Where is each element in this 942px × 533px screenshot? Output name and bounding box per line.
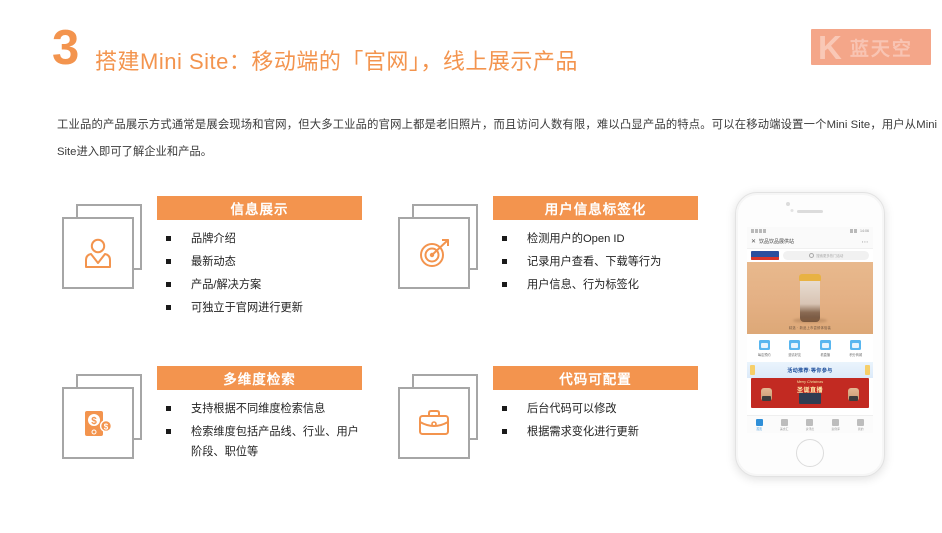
list-item: 根据需求变化进行更新	[493, 422, 698, 442]
target-icon	[398, 217, 470, 289]
list-item: 记录用户查看、下载等行为	[493, 252, 698, 272]
banner-subtitle: Merry Christmas	[751, 380, 869, 384]
gift-icon	[850, 340, 861, 350]
list-item: 可独立于官网进行更新	[157, 298, 362, 318]
quicknav-item[interactable]: 每店预约	[752, 340, 776, 357]
card-title: 信息展示	[231, 198, 289, 218]
close-icon[interactable]: ✕	[751, 238, 756, 245]
mini-site-titlebar: ✕ 饮品饮品展供站 ⋯	[747, 235, 873, 249]
livestream-banner[interactable]: Merry Christmas 圣诞直播	[751, 378, 869, 408]
quicknav-label: 邀请好友	[788, 352, 801, 357]
mini-site-title: 饮品饮品展供站	[759, 238, 861, 245]
card-title: 代码可配置	[559, 368, 632, 388]
tab-home[interactable]: 首页	[756, 419, 763, 431]
tab-label: 我的	[858, 427, 864, 431]
status-right: 14:06	[850, 229, 869, 233]
list-item: 支持根据不同维度检索信息	[157, 399, 362, 419]
tab-label: 美食汇	[780, 427, 788, 431]
card-title: 用户信息标签化	[545, 198, 647, 218]
list-item: 后台代码可以修改	[493, 399, 698, 419]
list-item: 最新动态	[157, 252, 362, 272]
quicknav-label: 看直播	[820, 352, 830, 357]
earpiece-speaker	[797, 210, 823, 213]
quicknav-item[interactable]: 积分商城	[844, 340, 868, 357]
sensor-icon	[791, 209, 794, 212]
front-camera-icon	[786, 202, 790, 206]
tab-label: 案例库	[832, 427, 840, 431]
card-body: 代码可配置 后台代码可以修改 根据需求变化进行更新	[493, 366, 698, 445]
quick-nav: 每店预约 邀请好友 看直播 积分商城	[747, 334, 873, 362]
hero-banner[interactable]: 精选 · 新品上市尝鲜体验装	[747, 262, 873, 334]
person-icon	[62, 217, 134, 289]
card-bullets: 检测用户的Open ID 记录用户查看、下载等行为 用户信息、行为标签化	[493, 220, 698, 295]
card-body: 多维度检索 支持根据不同维度检索信息 检索维度包括产品线、行业、用户阶段、职位等	[157, 366, 362, 465]
quicknav-item[interactable]: 看直播	[813, 340, 837, 357]
svg-text:$: $	[104, 423, 109, 432]
list-item: 检索维度包括产品线、行业、用户阶段、职位等	[157, 422, 362, 462]
search-icon	[809, 253, 815, 259]
quicknav-item[interactable]: 邀请好友	[783, 340, 807, 357]
intro-paragraph: 工业品的产品展示方式通常是展会现场和官网，但大多工业品的官网上都是老旧照片，而且…	[57, 112, 937, 166]
card-header: 用户信息标签化	[493, 196, 698, 220]
cup-shadow	[793, 318, 827, 323]
bottom-tabbar: 首页 美食汇 资讯栏 案例库 我的	[747, 415, 873, 433]
book-icon	[832, 419, 839, 426]
card-header: 多维度检索	[157, 366, 362, 390]
card-icon-frame: $ $	[62, 374, 148, 460]
tab-cases[interactable]: 案例库	[832, 419, 840, 431]
tab-label: 首页	[756, 427, 762, 431]
logo-initial: K	[818, 31, 841, 64]
card-bullets: 后台代码可以修改 根据需求变化进行更新	[493, 390, 698, 442]
brand-logo-chip	[751, 251, 779, 260]
quicknav-label: 积分商城	[849, 352, 862, 357]
home-button[interactable]	[796, 439, 824, 467]
svg-text:$: $	[91, 416, 97, 427]
profile-icon	[857, 419, 864, 426]
news-icon	[806, 419, 813, 426]
search-input[interactable]: 搜索更多热门活动	[783, 251, 869, 260]
tab-label: 资讯栏	[806, 427, 814, 431]
cup-body	[800, 279, 820, 322]
card-bullets: 支持根据不同维度检索信息 检索维度包括产品线、行业、用户阶段、职位等	[157, 390, 362, 462]
status-bar: 14:06	[747, 227, 873, 235]
slide-root: K 蓝天空 3 搭建Mini Site：移动端的「官网」，线上展示产品 工业品的…	[0, 0, 942, 533]
bubble-tea-image	[799, 274, 821, 322]
logo-name: 蓝天空	[850, 34, 913, 61]
hero-caption: 精选 · 新品上市尝鲜体验装	[747, 325, 873, 330]
signal-icon	[751, 229, 766, 233]
chef-icon	[781, 419, 788, 426]
quicknav-label: 每店预约	[758, 352, 771, 357]
document-icon	[789, 340, 800, 350]
calendar-icon	[759, 340, 770, 350]
phone-mockup: 14:06 ✕ 饮品饮品展供站 ⋯ 搜索更多热门活动	[735, 192, 885, 477]
search-placeholder: 搜索更多热门活动	[816, 253, 843, 258]
promo-text: 活动推荐·等你参与	[787, 367, 832, 374]
list-item: 品牌介绍	[157, 229, 362, 249]
list-item: 产品/解决方案	[157, 275, 362, 295]
card-icon-frame	[62, 204, 148, 290]
banner-screen-image	[799, 393, 821, 404]
card-icon-frame	[398, 204, 484, 290]
home-icon	[756, 419, 763, 426]
page-title: 搭建Mini Site：移动端的「官网」，线上展示产品	[95, 44, 578, 76]
search-row: 搜索更多热门活动	[747, 249, 873, 262]
card-title: 多维度检索	[223, 368, 296, 388]
briefcase-icon	[398, 387, 470, 459]
card-header: 代码可配置	[493, 366, 698, 390]
cup-lid	[799, 274, 821, 281]
status-time: 14:06	[860, 229, 869, 233]
host-avatar-right	[848, 388, 859, 401]
section-number: 3	[52, 24, 79, 73]
card-bullets: 品牌介绍 最新动态 产品/解决方案 可独立于官网进行更新	[157, 220, 362, 318]
card-header: 信息展示	[157, 196, 362, 220]
host-avatar-left	[761, 388, 772, 401]
tab-food[interactable]: 美食汇	[780, 419, 788, 431]
more-icon[interactable]: ⋯	[862, 238, 870, 246]
list-item: 用户信息、行为标签化	[493, 275, 698, 295]
card-body: 信息展示 品牌介绍 最新动态 产品/解决方案 可独立于官网进行更新	[157, 196, 362, 321]
card-icon-frame	[398, 374, 484, 460]
card-body: 用户信息标签化 检测用户的Open ID 记录用户查看、下载等行为 用户信息、行…	[493, 196, 698, 298]
video-icon	[820, 340, 831, 350]
brand-logo: K 蓝天空	[811, 29, 931, 65]
phone-screen: 14:06 ✕ 饮品饮品展供站 ⋯ 搜索更多热门活动	[747, 227, 873, 433]
promo-strip: 活动推荐·等你参与	[747, 362, 873, 378]
tab-news[interactable]: 资讯栏	[806, 419, 814, 431]
list-item: 检测用户的Open ID	[493, 229, 698, 249]
tab-profile[interactable]: 我的	[857, 419, 864, 431]
mobile-payment-icon: $ $	[62, 387, 134, 459]
